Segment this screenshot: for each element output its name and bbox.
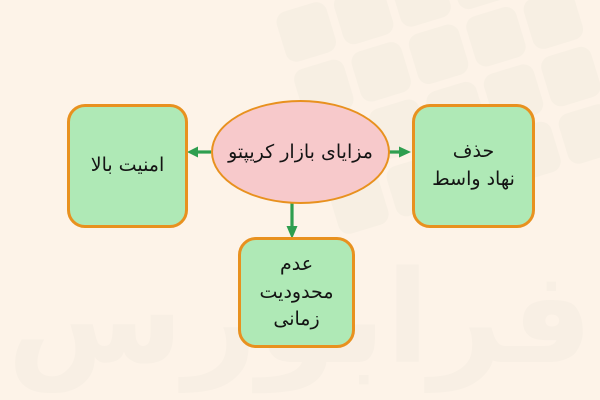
diagram-canvas: فرابورس امنیت بالا حذف نهاد واسط عدم محد… xyxy=(0,0,600,400)
node-crypto-market-benefits-line2: بازار کریپتو xyxy=(228,141,315,163)
node-high-security-line1: امنیت بالا xyxy=(91,152,165,180)
node-high-security[interactable]: امنیت بالا xyxy=(67,104,188,228)
node-remove-intermediary-line2: نهاد واسط xyxy=(432,166,515,194)
node-no-time-limit[interactable]: عدم محدودیت زمانی xyxy=(238,237,355,348)
node-no-time-limit-line3: زمانی xyxy=(260,306,334,334)
node-remove-intermediary[interactable]: حذف نهاد واسط xyxy=(412,104,535,228)
node-remove-intermediary-line1: حذف xyxy=(432,138,515,166)
node-no-time-limit-line2: محدودیت xyxy=(260,279,334,307)
node-crypto-market-benefits-line1: مزایای xyxy=(321,141,373,163)
arrow-down-icon xyxy=(284,198,300,240)
arrow-left-icon xyxy=(186,144,212,160)
node-crypto-market-benefits[interactable]: مزایای بازار کریپتو xyxy=(211,100,390,204)
node-no-time-limit-line1: عدم xyxy=(260,251,334,279)
